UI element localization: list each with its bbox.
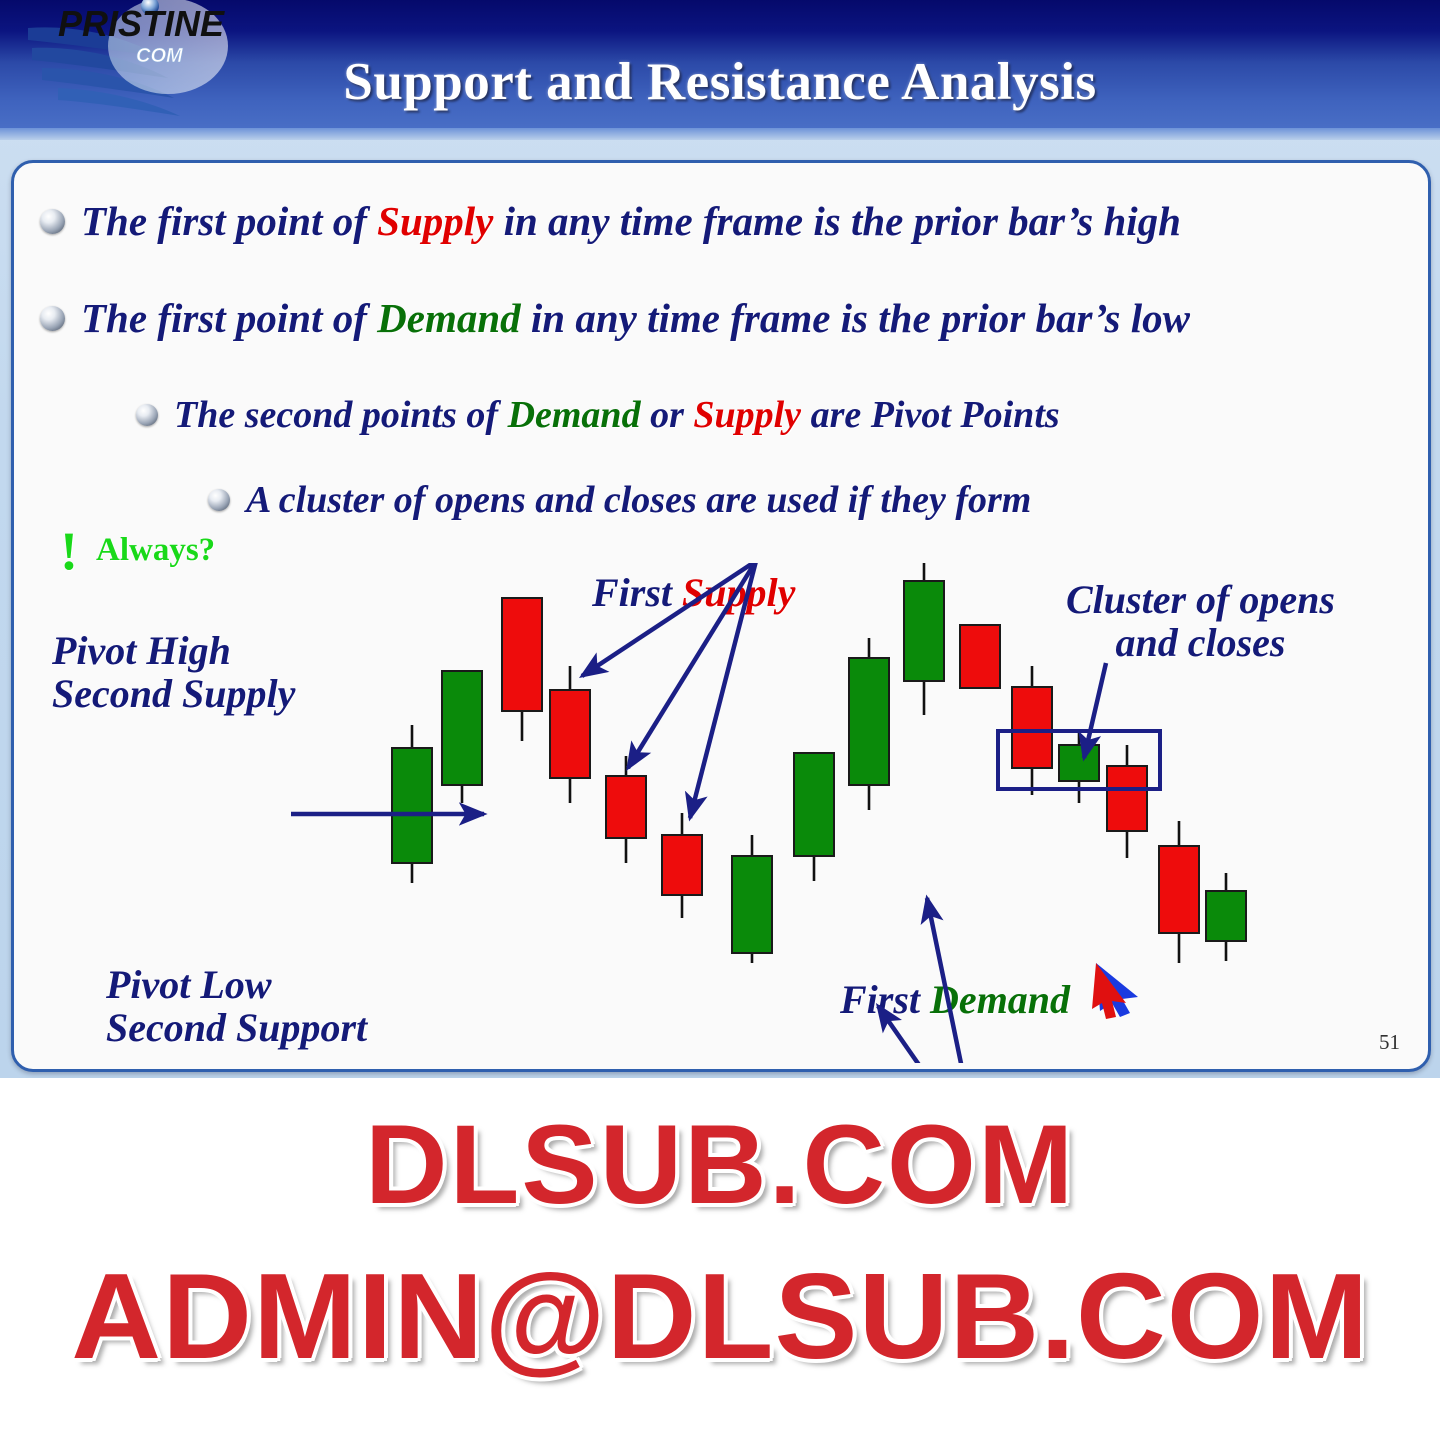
annotation-arrow xyxy=(927,898,979,1063)
candlestick-chart xyxy=(14,563,1422,1063)
bullet-sphere-icon xyxy=(208,489,230,511)
bullet-item-1: The first point of Supply in any time fr… xyxy=(40,197,1181,245)
watermark-site-text: DLSUB.COM xyxy=(365,1100,1075,1229)
bullet-1-keyword: Supply xyxy=(377,198,493,244)
candle-group xyxy=(392,563,1246,963)
slide-content-card: The first point of Supply in any time fr… xyxy=(11,160,1431,1072)
annotation-arrow xyxy=(878,1006,979,1063)
watermark-email-text: ADMIN@DLSUB.COM xyxy=(71,1246,1369,1386)
annotation-arrow xyxy=(628,563,756,768)
watermark-site: DLSUB.COM xyxy=(0,1100,1440,1229)
page-number: 51 xyxy=(1379,1030,1400,1055)
bullet-2-text: The first point of Demand in any time fr… xyxy=(81,294,1190,342)
bullet-2-post: in any time frame is the prior bar’s low xyxy=(521,295,1190,341)
candle-body-up xyxy=(1206,891,1246,941)
candle-body-up xyxy=(732,856,772,953)
candle-body-up xyxy=(442,671,482,785)
candle-body-down xyxy=(502,598,542,711)
bullet-2-keyword: Demand xyxy=(377,295,521,341)
annotation-arrow xyxy=(690,563,756,818)
candle-body-up xyxy=(794,753,834,856)
bullet-3-text: The second points of Demand or Supply ar… xyxy=(174,393,1060,437)
candle-body-down xyxy=(960,625,1000,688)
candle-body-up xyxy=(904,581,944,681)
candle-body-up xyxy=(1059,745,1099,781)
bullet-3-pre: The second points of xyxy=(174,394,508,436)
candle-body-down xyxy=(1159,846,1199,933)
bullet-sphere-icon xyxy=(40,209,65,234)
logo-wordmark: PRISTINE xyxy=(58,3,225,44)
bullet-1-post: in any time frame is the prior bar’s hig… xyxy=(493,198,1181,244)
bullet-1-text: The first point of Supply in any time fr… xyxy=(81,197,1181,245)
watermark-banner: DLSUB.COM ADMIN@DLSUB.COM xyxy=(0,1078,1440,1440)
candle-body-down xyxy=(662,835,702,895)
bullet-item-4: A cluster of opens and closes are used i… xyxy=(208,478,1031,522)
bullet-sphere-icon xyxy=(40,306,65,331)
bullet-3-keyword-supply: Supply xyxy=(693,394,801,436)
candle-body-down xyxy=(550,690,590,778)
bullet-3-keyword-demand: Demand xyxy=(508,394,641,436)
bullet-4-text: A cluster of opens and closes are used i… xyxy=(246,478,1031,522)
watermark-email: ADMIN@DLSUB.COM xyxy=(0,1246,1440,1386)
bullet-1-pre: The first point of xyxy=(81,198,377,244)
bullet-2-pre: The first point of xyxy=(81,295,377,341)
bullet-item-3: The second points of Demand or Supply ar… xyxy=(136,393,1060,437)
bullet-3-mid: or xyxy=(641,394,694,436)
mouse-cursor xyxy=(1092,963,1138,1019)
page-title: Support and Resistance Analysis xyxy=(0,52,1440,112)
bullet-item-2: The first point of Demand in any time fr… xyxy=(40,294,1190,342)
bullet-3-post: are Pivot Points xyxy=(801,394,1060,436)
candle-body-up xyxy=(849,658,889,785)
candle-body-down xyxy=(606,776,646,838)
candle-body-down xyxy=(1107,766,1147,831)
annotation-arrow xyxy=(1084,663,1106,758)
candle-body-down xyxy=(1012,687,1052,768)
bullet-sphere-icon xyxy=(136,404,158,426)
slide: PRISTINE COM Support and Resistance Anal… xyxy=(0,0,1440,1078)
candle-body-up xyxy=(392,748,432,863)
